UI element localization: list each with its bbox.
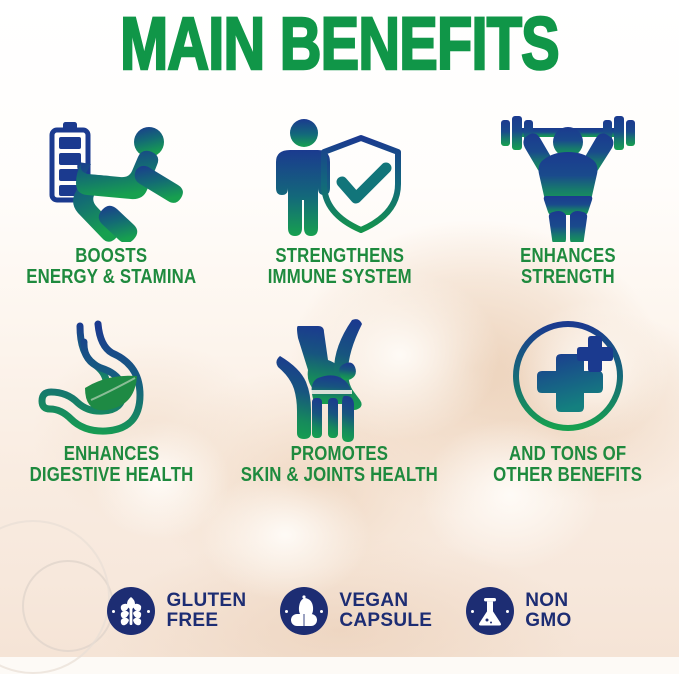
benefit-item-joints: PROMOTES SKIN & JOINTS HEALTH bbox=[222, 316, 457, 532]
badge-label-line1: NON bbox=[525, 591, 571, 611]
benefit-label-line1: ENHANCES bbox=[29, 444, 193, 465]
knee-joint-bone-icon bbox=[222, 316, 457, 444]
wheat-icon bbox=[107, 587, 155, 635]
benefit-item-strength: ENHANCES STRENGTH bbox=[457, 110, 679, 316]
badge-label-line2: GMO bbox=[525, 611, 571, 631]
badge-label-line2: CAPSULE bbox=[339, 611, 432, 631]
benefit-label-line1: AND TONS OF bbox=[493, 444, 642, 465]
person-shield-check-icon bbox=[222, 110, 457, 246]
benefit-item-other: AND TONS OF OTHER BENEFITS bbox=[457, 316, 679, 532]
benefit-label-line2: IMMUNE SYSTEM bbox=[267, 267, 411, 288]
weightlifter-dumbbell-icon bbox=[457, 110, 679, 246]
benefit-label-line1: ENHANCES bbox=[520, 246, 616, 267]
benefit-label-line1: PROMOTES bbox=[241, 444, 438, 465]
page-title: MAIN BENEFITS bbox=[75, 2, 605, 86]
badge-label-line2: FREE bbox=[166, 611, 246, 631]
benefit-label-digestive: ENHANCES DIGESTIVE HEALTH bbox=[29, 444, 193, 486]
benefit-label-joints: PROMOTES SKIN & JOINTS HEALTH bbox=[241, 444, 438, 486]
flask-icon bbox=[466, 587, 514, 635]
benefit-label-other: AND TONS OF OTHER BENEFITS bbox=[493, 444, 642, 486]
benefit-label-line2: STRENGTH bbox=[520, 267, 616, 288]
badge-label-line1: VEGAN bbox=[339, 591, 432, 611]
benefit-label-line1: BOOSTS bbox=[26, 246, 196, 267]
running-person-battery-icon bbox=[0, 110, 222, 246]
benefit-label-energy: BOOSTS ENERGY & STAMINA bbox=[26, 246, 196, 288]
badge-gluten-free: GLUTEN FREE bbox=[107, 587, 246, 635]
benefit-label-line2: ENERGY & STAMINA bbox=[26, 267, 196, 288]
benefits-panel: MAIN BENEFITS bbox=[0, 0, 679, 657]
benefit-item-digestive: ENHANCES DIGESTIVE HEALTH bbox=[0, 316, 222, 532]
benefit-item-energy: BOOSTS ENERGY & STAMINA bbox=[0, 110, 222, 316]
capsule-leaf-icon bbox=[280, 587, 328, 635]
badge-non-gmo: NON GMO bbox=[466, 587, 571, 635]
badge-label-non-gmo: NON GMO bbox=[525, 591, 571, 631]
badge-label-gluten-free: GLUTEN FREE bbox=[166, 591, 246, 631]
benefit-label-line2: SKIN & JOINTS HEALTH bbox=[241, 465, 438, 486]
badge-label-vegan-capsule: VEGAN CAPSULE bbox=[339, 591, 432, 631]
benefit-label-line2: DIGESTIVE HEALTH bbox=[29, 465, 193, 486]
circle-plus-icon bbox=[457, 316, 679, 444]
benefit-label-line1: STRENGTHENS bbox=[267, 246, 411, 267]
benefit-label-strength: ENHANCES STRENGTH bbox=[520, 246, 616, 288]
certification-badges: GLUTEN FREE bbox=[0, 587, 679, 635]
benefit-item-immune: STRENGTHENS IMMUNE SYSTEM bbox=[222, 110, 457, 316]
badge-vegan-capsule: VEGAN CAPSULE bbox=[280, 587, 432, 635]
benefit-label-immune: STRENGTHENS IMMUNE SYSTEM bbox=[267, 246, 411, 288]
stomach-leaf-icon bbox=[0, 316, 222, 444]
badge-label-line1: GLUTEN bbox=[166, 591, 246, 611]
benefit-label-line2: OTHER BENEFITS bbox=[493, 465, 642, 486]
benefits-grid: BOOSTS ENERGY & STAMINA bbox=[0, 110, 679, 532]
